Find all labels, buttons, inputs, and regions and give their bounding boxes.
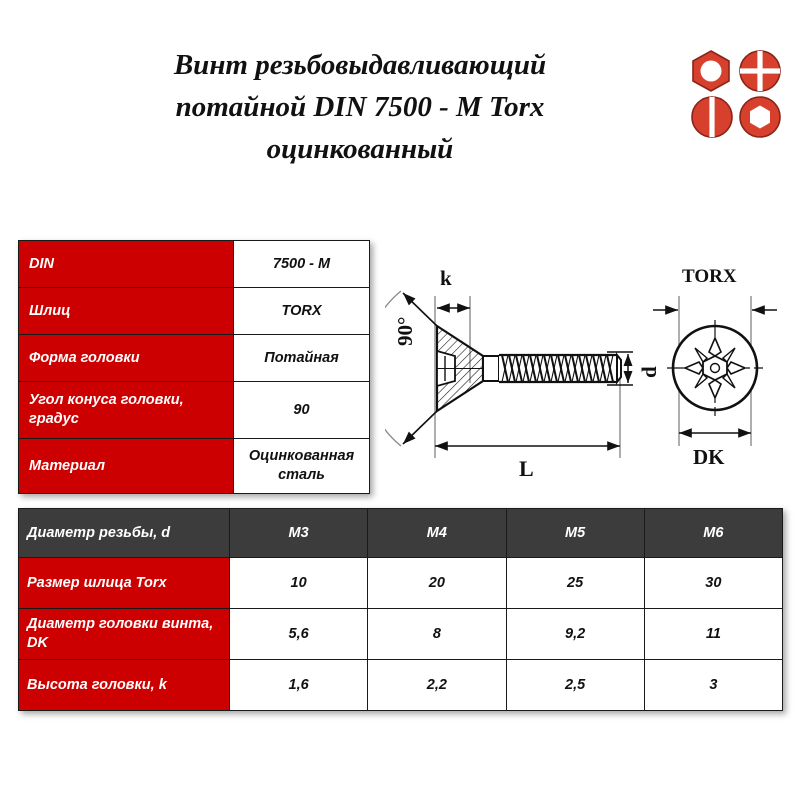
table-row: DIN 7500 - M (19, 241, 370, 288)
technical-drawing-svg (385, 268, 790, 498)
label-d: d (637, 366, 662, 378)
table-row: Диаметр головки винта, DK 5,6 8 9,2 11 (19, 609, 783, 660)
dim-cell: 11 (644, 609, 782, 660)
spec-value: 90 (234, 382, 370, 439)
table-row: Форма головки Потайная (19, 335, 370, 382)
label-torx: TORX (682, 266, 737, 288)
table-row: Шлиц TORX (19, 288, 370, 335)
dim-cell: 5,6 (230, 609, 368, 660)
cross-slot-screw-icon (740, 51, 780, 91)
dim-row-label: Высота головки, k (19, 660, 230, 711)
torx-head-top-view (653, 296, 777, 446)
specification-table: DIN 7500 - M Шлиц TORX Форма головки Пот… (18, 240, 370, 494)
label-dk: DK (693, 445, 725, 470)
page-title: Винт резьбовыдавливающий потайной DIN 75… (60, 44, 660, 170)
spec-label: Угол конуса головки, градус (19, 382, 234, 439)
spec-value: Потайная (234, 335, 370, 382)
dim-cell: 20 (368, 558, 506, 609)
table-row: Высота головки, k 1,6 2,2 2,5 3 (19, 660, 783, 711)
dim-cell: 9,2 (506, 609, 644, 660)
dim-row-label: Диаметр головки винта, DK (19, 609, 230, 660)
screw-shank (483, 356, 499, 381)
angle-arc (385, 291, 401, 446)
hex-socket-screw-icon (740, 97, 780, 137)
dimension-table: Диаметр резьбы, d M3 M4 M5 M6 Размер шли… (18, 508, 783, 711)
spec-value: Оцинкованная сталь (234, 439, 370, 494)
dim-header-m4: M4 (368, 509, 506, 558)
dim-header-m3: M3 (230, 509, 368, 558)
angle-leg-lower (403, 411, 437, 444)
label-angle-90: 90° (393, 317, 418, 346)
slot-screw-icon (692, 97, 732, 137)
screw-thread (499, 355, 621, 382)
dim-cell: 8 (368, 609, 506, 660)
spec-label: Форма головки (19, 335, 234, 382)
table-header-row: Диаметр резьбы, d M3 M4 M5 M6 (19, 509, 783, 558)
spec-label: DIN (19, 241, 234, 288)
dim-cell: 10 (230, 558, 368, 609)
brand-logo-svg (690, 48, 782, 140)
spec-label: Шлиц (19, 288, 234, 335)
dim-row-label: Размер шлица Torx (19, 558, 230, 609)
table-row: Материал Оцинкованная сталь (19, 439, 370, 494)
dim-cell: 3 (644, 660, 782, 711)
dim-cell: 2,5 (506, 660, 644, 711)
dim-cell: 1,6 (230, 660, 368, 711)
table-row: Размер шлица Torx 10 20 25 30 (19, 558, 783, 609)
dim-header-label: Диаметр резьбы, d (19, 509, 230, 558)
spec-value: TORX (234, 288, 370, 335)
spec-label: Материал (19, 439, 234, 494)
hex-nut-icon (693, 51, 729, 91)
label-L: L (519, 456, 534, 482)
fastener-brand-logo (690, 48, 782, 140)
dim-cell: 2,2 (368, 660, 506, 711)
technical-drawing: k 90° d L TORX DK (385, 268, 790, 498)
dim-header-m6: M6 (644, 509, 782, 558)
page-title-line-2: потайной DIN 7500 - M Torx (60, 86, 660, 128)
table-row: Угол конуса головки, градус 90 (19, 382, 370, 439)
page-title-line-1: Винт резьбовыдавливающий (60, 44, 660, 86)
countersunk-screw-side-view (385, 291, 633, 458)
dim-header-m5: M5 (506, 509, 644, 558)
spec-value: 7500 - M (234, 241, 370, 288)
label-k: k (440, 266, 452, 291)
page-title-line-3: оцинкованный (60, 128, 660, 170)
dim-cell: 30 (644, 558, 782, 609)
dim-cell: 25 (506, 558, 644, 609)
